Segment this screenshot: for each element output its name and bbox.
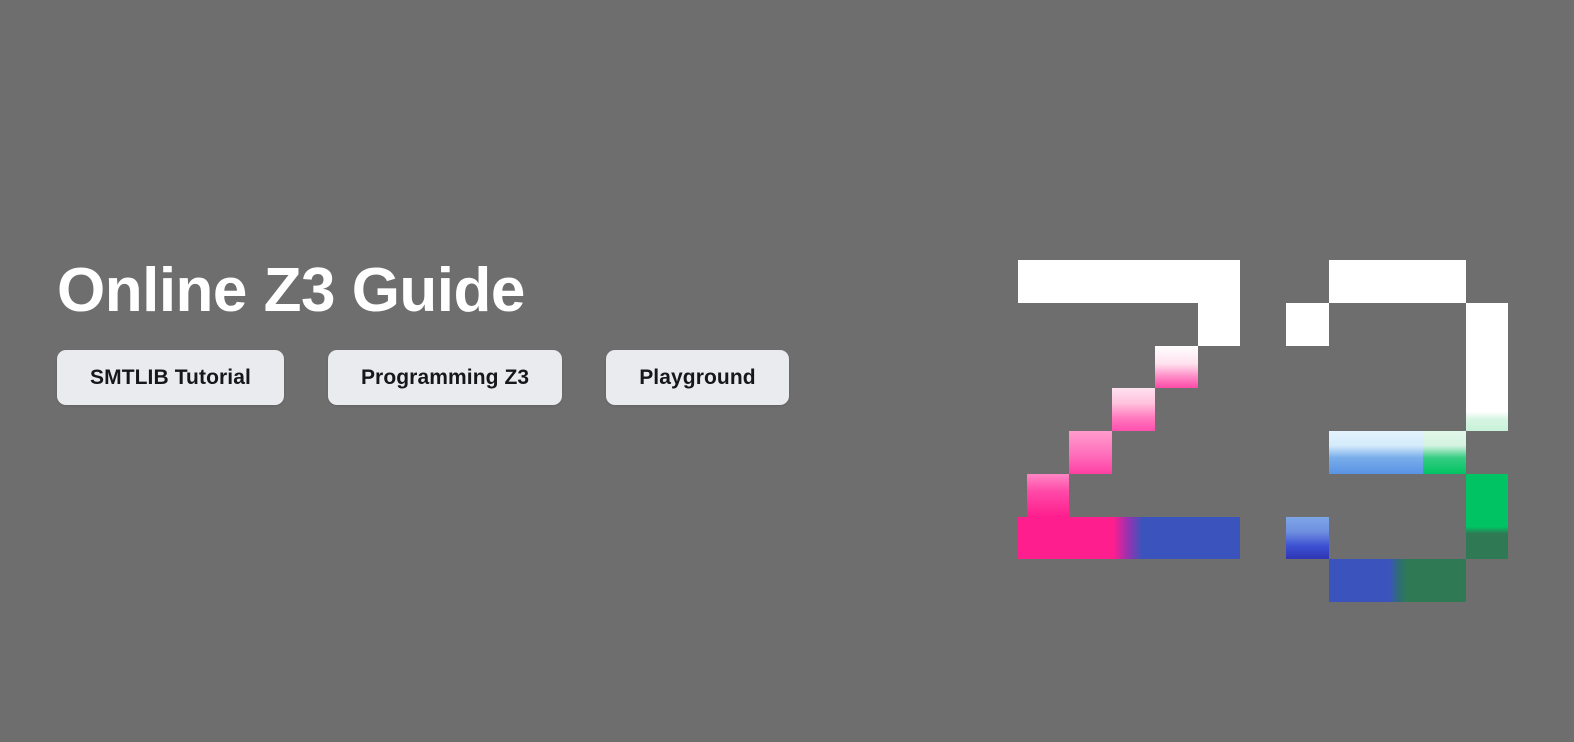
- logo-cell-block: [1329, 559, 1466, 602]
- logo-cell-block: [1112, 388, 1155, 431]
- logo-cell-block: [1466, 303, 1509, 389]
- programming-z3-button[interactable]: Programming Z3: [328, 350, 562, 405]
- hero-text-block: Online Z3 Guide SMTLIB Tutorial Programm…: [57, 258, 957, 405]
- z3-logo-icon: [1018, 260, 1528, 590]
- logo-cell-block: [1423, 431, 1466, 474]
- cta-button-row: SMTLIB Tutorial Programming Z3 Playgroun…: [57, 350, 957, 405]
- logo-cell-block: [1027, 474, 1070, 517]
- logo-cell-block: [1286, 517, 1329, 560]
- smtlib-tutorial-button[interactable]: SMTLIB Tutorial: [57, 350, 284, 405]
- logo-cell-block: [1329, 260, 1466, 303]
- hero-section: Online Z3 Guide SMTLIB Tutorial Programm…: [0, 0, 1574, 742]
- logo-cell-block: [1466, 388, 1509, 431]
- page-title: Online Z3 Guide: [57, 258, 957, 323]
- logo-cell-block: [1155, 346, 1198, 389]
- logo-cell-block: [1018, 260, 1240, 303]
- logo-cell-block: [1018, 517, 1240, 560]
- logo-cell-block: [1466, 474, 1509, 560]
- logo-cell-block: [1329, 431, 1423, 474]
- logo-cell-block: [1286, 303, 1329, 346]
- logo-cell-block: [1198, 303, 1241, 346]
- playground-button[interactable]: Playground: [606, 350, 789, 405]
- logo-cell-block: [1069, 431, 1112, 474]
